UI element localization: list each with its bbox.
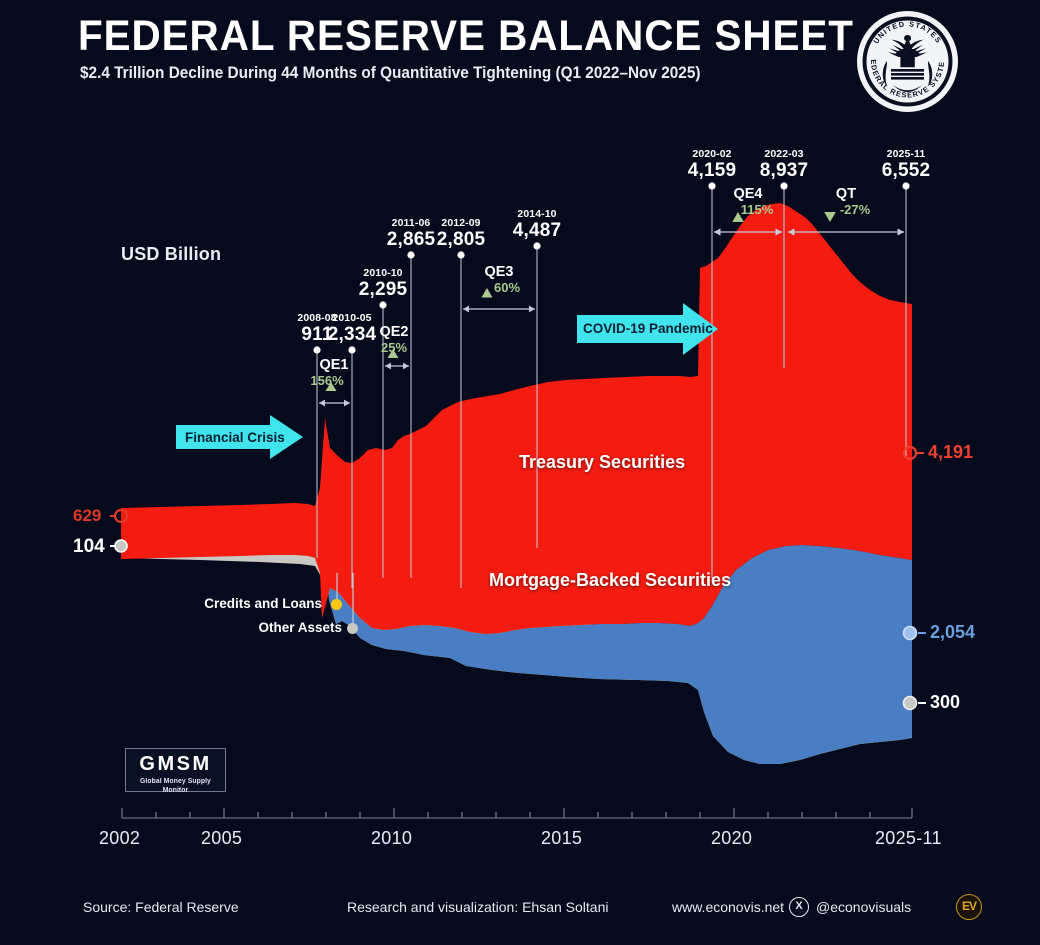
phase-name: QE4 xyxy=(698,186,798,202)
annotation-date: 2014-10 xyxy=(487,208,587,220)
pointer-legend-label: Other Assets xyxy=(258,620,342,635)
edge-label-right-other-assets: 300 xyxy=(930,692,960,713)
header: FEDERAL RESERVE BALANCE SHEET $2.4 Trill… xyxy=(0,0,1040,118)
x-tick-label-2005: 2005 xyxy=(201,828,242,849)
annotation-date: 2025-11 xyxy=(856,148,956,160)
phase-qe2: QE2 25% xyxy=(347,324,441,355)
federal-reserve-seal-icon: UNITED STATES FEDERAL RESERVE SYSTEM xyxy=(857,11,958,112)
page-subtitle: $2.4 Trillion Decline During 44 Months o… xyxy=(80,64,700,83)
gmsm-logo: GMSM Global Money Supply Monitor xyxy=(125,748,226,792)
annotation-date: 2022-03 xyxy=(734,148,834,160)
gmsm-logo-mark: GMSM xyxy=(126,752,225,777)
phase-name: QE3 xyxy=(449,264,549,280)
phase-name: QE2 xyxy=(347,324,441,340)
annotation-date: 2010-05 xyxy=(302,312,402,324)
edge-label-right-treasury: 4,191 xyxy=(928,442,973,463)
annotation-value: 6,552 xyxy=(856,160,956,181)
phase-qe3: QE3 60% xyxy=(449,264,549,295)
series-label-treasury-securities: Treasury Securities xyxy=(519,452,685,473)
x-tick-label-2015: 2015 xyxy=(541,828,582,849)
pointer-legend-other-assets: Other Assets xyxy=(140,620,342,635)
callout-label-financial-crisis: Financial Crisis xyxy=(185,430,285,445)
phase-change: 115% xyxy=(698,202,798,217)
annotation-value: 4,487 xyxy=(487,220,587,241)
footer-website[interactable]: www.econovis.net xyxy=(672,899,784,915)
phase-change: 156% xyxy=(284,373,384,388)
footer-handle[interactable]: @econovisuals xyxy=(816,899,911,915)
phase-change-value: 25% xyxy=(381,340,407,355)
balance-sheet-area-chart: 2008-08 911 2010-05 2,334 2010-10 2,295 … xyxy=(0,118,1040,838)
econovis-brand-mark: EV xyxy=(956,894,982,920)
x-tick-label-2020: 2020 xyxy=(711,828,752,849)
annotation-2014-10: 2014-10 4,487 xyxy=(487,208,587,241)
series-label-mortgage-backed-securities: Mortgage-Backed Securities xyxy=(489,570,731,591)
annotation-value: 2,295 xyxy=(333,279,433,300)
page-title: FEDERAL RESERVE BALANCE SHEET xyxy=(78,12,854,61)
pointer-legend-label: Credits and Loans xyxy=(204,596,322,611)
phase-qt: QT -27% xyxy=(796,186,896,217)
phase-name: QT xyxy=(796,186,896,202)
credits-and-loans-dot-icon xyxy=(331,599,342,610)
phase-change-value: -27% xyxy=(840,202,870,217)
phase-name: QE1 xyxy=(284,357,384,373)
annotation-2025-11: 2025-11 6,552 xyxy=(856,148,956,181)
annotation-value: 8,937 xyxy=(734,160,834,181)
footer-credit: Research and visualization: Ehsan Soltan… xyxy=(347,899,609,915)
annotation-2010-10: 2010-10 2,295 xyxy=(333,267,433,300)
phase-change: -27% xyxy=(796,202,896,217)
phase-qe1: QE1 156% xyxy=(284,357,384,388)
pointer-legend-credits-and-loans: Credits and Loans xyxy=(120,596,322,611)
callout-label-covid-19-pandemic: COVID-19 Pandemic xyxy=(583,321,713,336)
unit-label: USD Billion xyxy=(121,244,221,265)
phase-qe4: QE4 115% xyxy=(698,186,798,217)
other-assets-dot-icon xyxy=(347,623,358,634)
edge-label-left-treasury: 629 xyxy=(73,506,101,526)
infographic-root: FEDERAL RESERVE BALANCE SHEET $2.4 Trill… xyxy=(0,0,1040,945)
x-tick-label-2010: 2010 xyxy=(371,828,412,849)
phase-change: 60% xyxy=(449,280,549,295)
phase-change: 25% xyxy=(347,340,441,355)
x-axis xyxy=(122,808,912,818)
phase-change-value: 156% xyxy=(310,373,343,388)
x-tick-label-2025-11: 2025-11 xyxy=(875,828,942,849)
footer-source: Source: Federal Reserve xyxy=(83,899,239,915)
x-social-icon[interactable]: X xyxy=(789,897,809,917)
phase-change-value: 115% xyxy=(741,202,774,217)
footer: Source: Federal Reserve Research and vis… xyxy=(0,880,1040,945)
annotation-date: 2010-10 xyxy=(333,267,433,279)
x-tick-label-2002: 2002 xyxy=(99,828,140,849)
phase-change-value: 60% xyxy=(494,280,520,295)
annotation-2022-03: 2022-03 8,937 xyxy=(734,148,834,181)
gmsm-logo-tagline: Global Money Supply Monitor xyxy=(127,777,223,795)
edge-label-right-mbs: 2,054 xyxy=(930,622,975,643)
edge-label-left-other-assets: 104 xyxy=(73,536,105,558)
